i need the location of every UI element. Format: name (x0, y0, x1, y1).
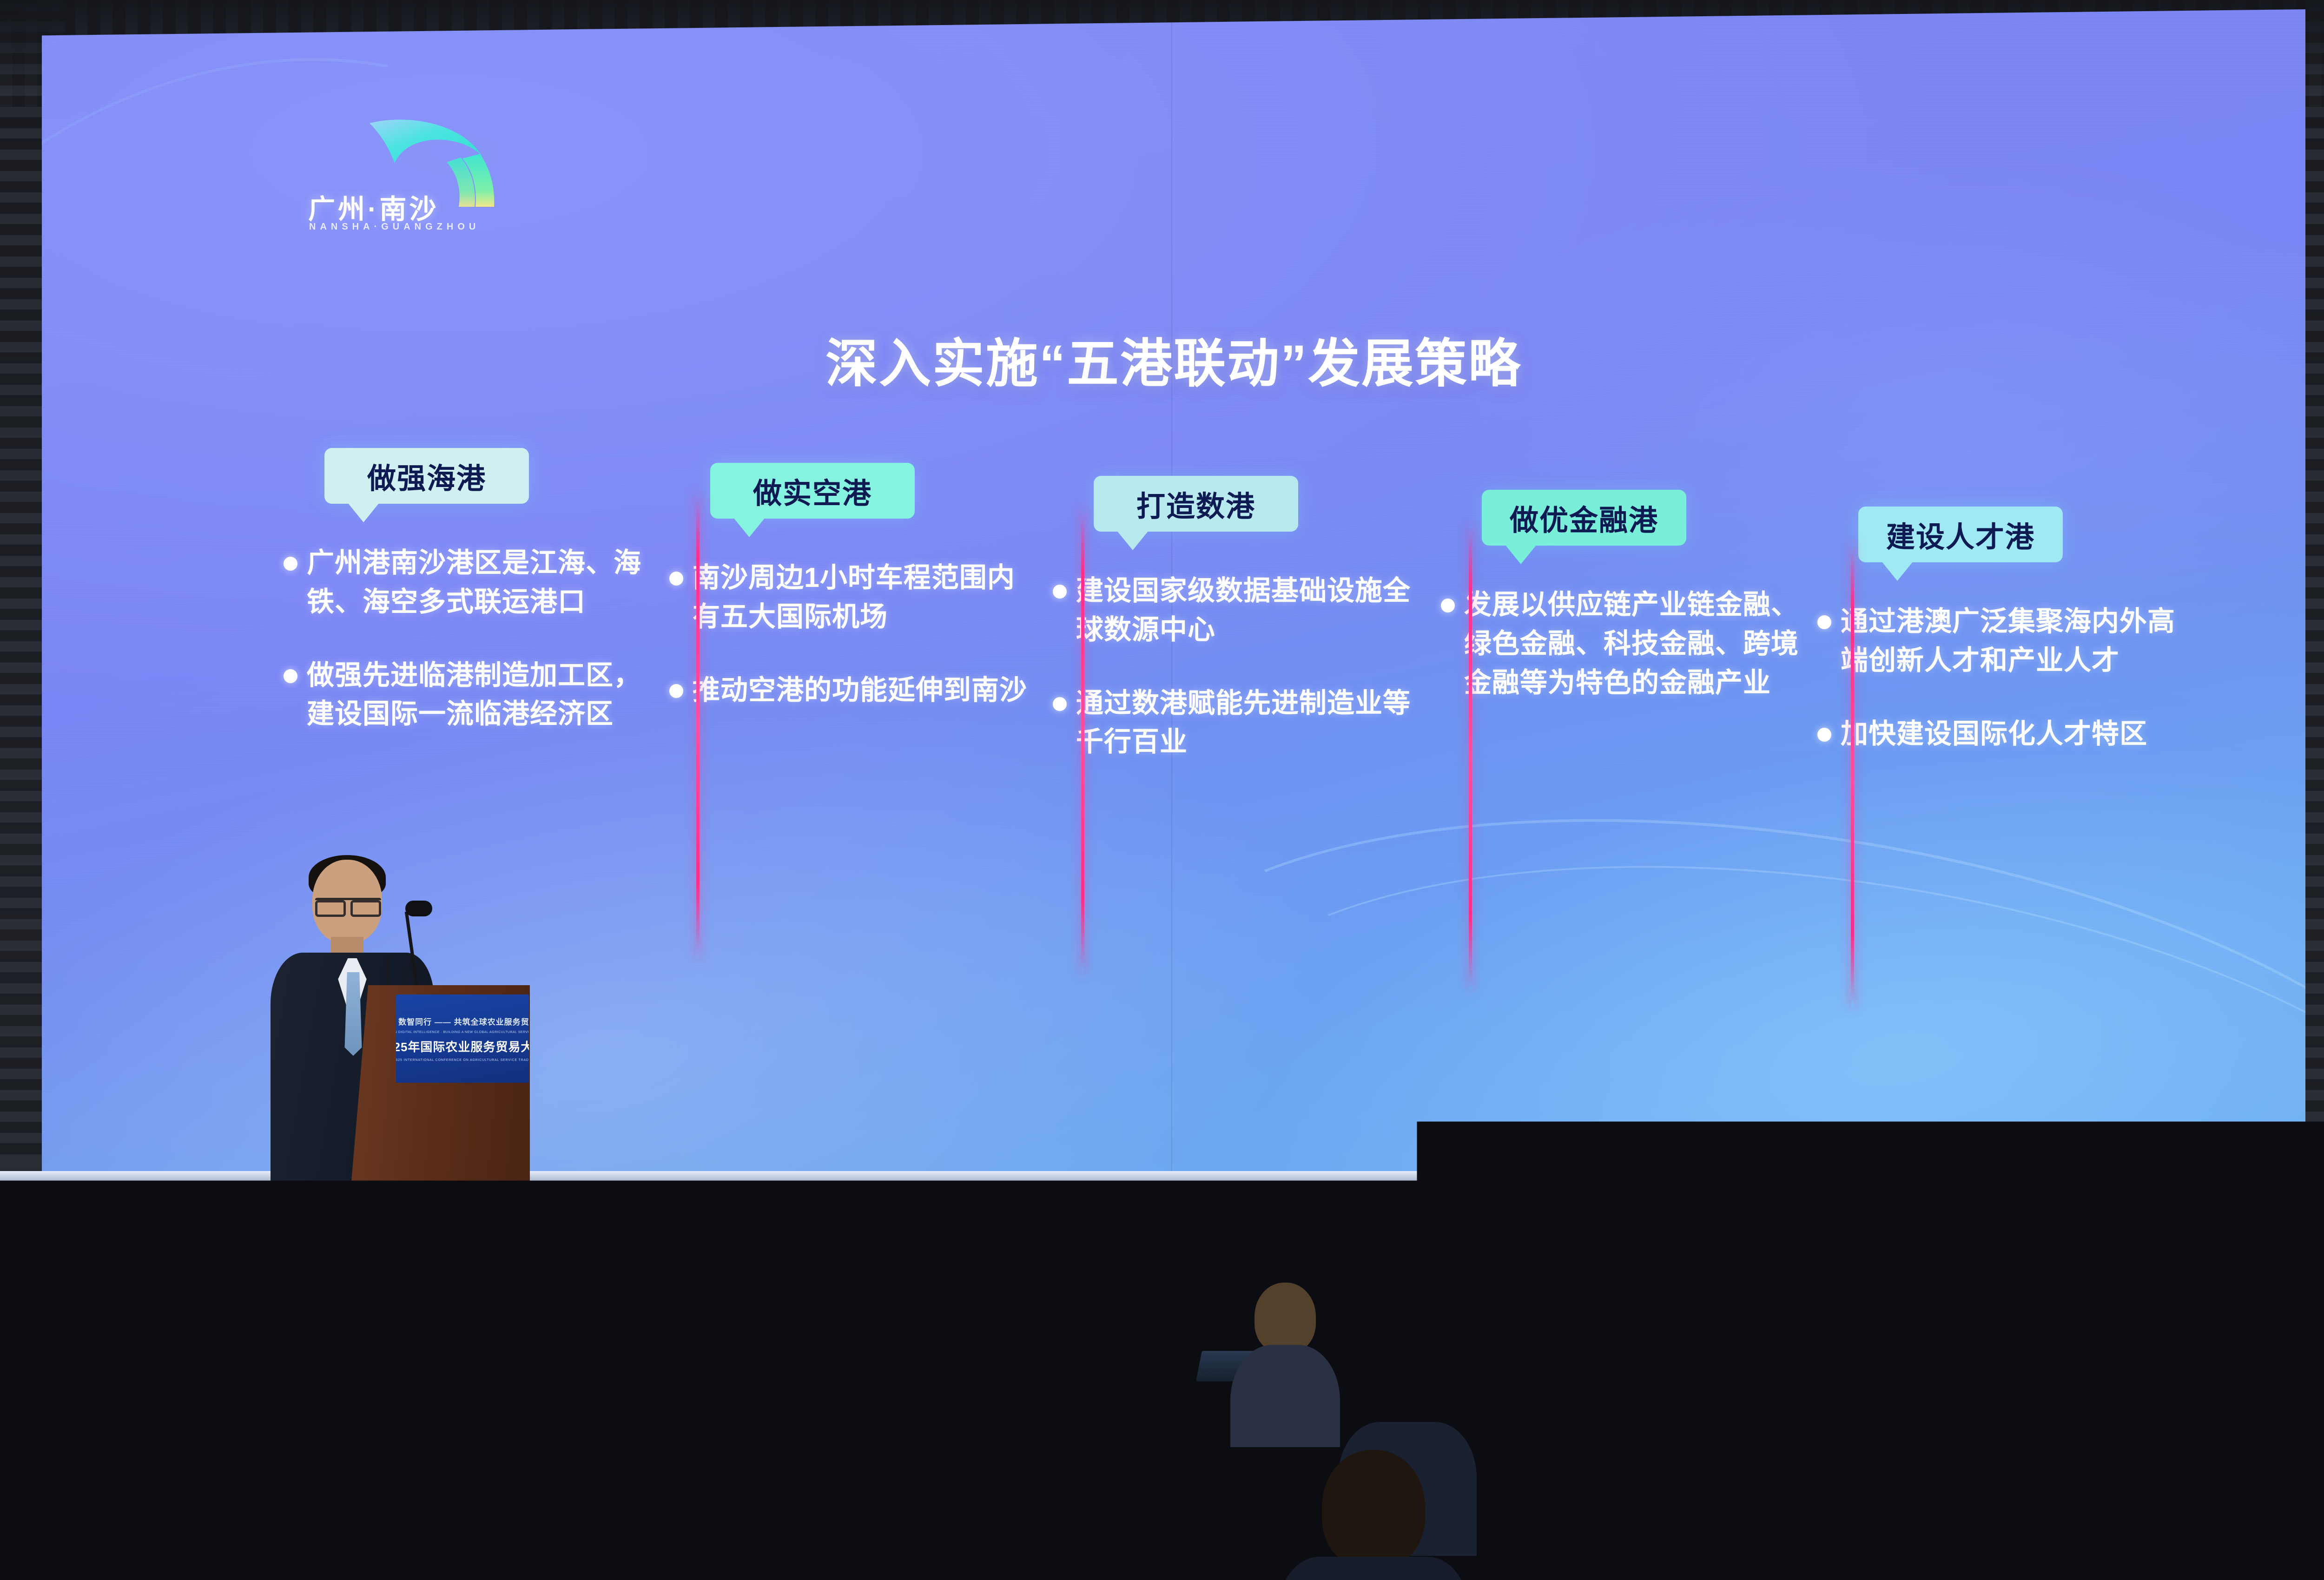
bullet-item: 推动空港的功能延伸到南沙 (669, 671, 1032, 710)
audience-head (492, 1278, 554, 1349)
bullet-dot-icon (669, 572, 683, 586)
bullet-item: 南沙周边1小时车程范围内有五大国际机场 (669, 559, 1032, 637)
audience-head (1917, 1459, 2020, 1577)
audience-head (1636, 1283, 1697, 1352)
badge-tail-0 (348, 503, 379, 522)
bullets-shugang: 建设国家级数据基础设施全球数源中心 通过数港赋能先进制造业等千行百业 (1053, 572, 1415, 796)
badge-wrap-4: 建设人才港 (1817, 507, 2180, 595)
bullet-dot-icon (1817, 728, 1831, 742)
badge-wrap-0: 做强海港 (284, 448, 646, 536)
bullet-item: 发展以供应链产业链金融、绿色金融、科技金融、跨境金融等为特色的金融产业 (1441, 586, 1803, 702)
bullet-item: 通过数港赋能先进制造业等千行百业 (1053, 684, 1415, 762)
logo-chinese-text: 广州·南沙 (308, 187, 439, 226)
column-divider (1469, 525, 1472, 990)
bullet-text: 建设国家级数据基础设施全球数源中心 (1076, 572, 1415, 650)
badge-label: 做强海港 (347, 455, 507, 497)
audience-head (514, 1441, 616, 1558)
bullet-item: 做强先进临港制造加工区，建设国际一流临港经济区 (284, 656, 646, 734)
nansha-guangzhou-logo: 广州·南沙 NANSHA·GUANGZHOU (300, 118, 504, 239)
audience-member (483, 1441, 646, 1580)
microphone-icon (405, 901, 432, 916)
audience-member (28, 1515, 195, 1580)
audience-body (1230, 1345, 1340, 1447)
bullet-text: 广州港南沙港区是江海、海铁、海空多式联运港口 (307, 544, 646, 622)
logo-english-text: NANSHA·GUANGZHOU (309, 222, 480, 232)
column-haigang: 做强海港 广州港南沙港区是江海、海铁、海空多式联运港口 做强先进临港制造加工区，… (284, 448, 646, 536)
badge-shugang: 打造数港 (1094, 476, 1298, 532)
bullets-rencaigang: 通过港澳广泛集聚海内外高端创新人才和产业人才 加快建设国际化人才特区 (1817, 602, 2180, 788)
audience-head (1676, 1348, 1752, 1436)
audience-body (2105, 1344, 2213, 1446)
audience-member (985, 1292, 1083, 1445)
bullet-text: 发展以供应链产业链金融、绿色金融、科技金融、跨境金融等为特色的金融产业 (1464, 586, 1803, 702)
bullet-item: 加快建设国际化人才特区 (1817, 715, 2180, 754)
column-divider (1081, 508, 1084, 973)
audience-member (2175, 1468, 2324, 1580)
audience-head (839, 1450, 941, 1567)
audience-member (688, 1283, 781, 1431)
audience-member (1236, 1283, 1334, 1436)
audience-head (1868, 1278, 1929, 1349)
audience-member (1023, 1496, 1190, 1580)
audience-head (1950, 1338, 2027, 1427)
podium-sign-title-en: 2025 INTERNATIONAL CONFERENCE ON AGRICUL… (396, 1059, 529, 1062)
five-port-columns: 做强海港 广州港南沙港区是江海、海铁、海空多式联运港口 做强先进临港制造加工区，… (284, 441, 2273, 999)
audience-area: 国际农业服务贸易大会 贾广东 Jia Guangdong (0, 1143, 2324, 1580)
audience-head (2205, 1468, 2308, 1580)
audience-head (1322, 1450, 1425, 1568)
audience-head (1481, 1552, 1587, 1580)
bullet-text: 加快建设国际化人才特区 (1841, 715, 2147, 754)
badge-label: 做优金融港 (1489, 497, 1679, 539)
column-shugang: 打造数港 建设国家级数据基础设施全球数源中心 通过数港赋能先进制造业等千行百业 (1053, 476, 1415, 564)
audience-member (688, 1552, 855, 1580)
bullet-dot-icon (1053, 585, 1067, 599)
column-jinronggang: 做优金融港 发展以供应链产业链金融、绿色金融、科技金融、跨境金融等为特色的金融产… (1441, 490, 1803, 578)
badge-tail-1 (733, 518, 765, 537)
column-konggang: 做实空港 南沙周边1小时车程范围内有五大国际机场 推动空港的功能延伸到南沙 (669, 463, 1032, 551)
badge-wrap-1: 做实空港 (669, 463, 1032, 551)
bullets-jinronggang: 发展以供应链产业链金融、绿色金融、科技金融、跨境金融等为特色的金融产业 (1441, 586, 1803, 737)
bullet-text: 通过港澳广泛集聚海内外高端创新人才和产业人才 (1841, 602, 2180, 680)
audience-member (1292, 1450, 1455, 1580)
audience-body (1278, 1557, 1469, 1580)
badge-label: 做实空港 (733, 470, 892, 512)
bottle-cap (2000, 1313, 2013, 1322)
right-wall-slats (2305, 0, 2324, 1162)
audience-member (818, 1278, 916, 1431)
speaker-glasses (315, 898, 381, 911)
podium-sign-title: 2025年国际农业服务贸易大会 (396, 1038, 529, 1055)
audience-member (1887, 1459, 2050, 1580)
bullet-dot-icon (284, 557, 297, 571)
bullet-text: 做强先进临港制造加工区，建设国际一流临港经济区 (307, 656, 646, 734)
audience-body (470, 1547, 660, 1580)
podium-conference-sign: 创新驱动 数智同行 —— 共筑全球农业服务贸易新格局 INNOVATION DR… (396, 994, 529, 1083)
bullet-text: 推动空港的功能延伸到南沙 (693, 671, 1027, 710)
audience-head (836, 1278, 898, 1349)
bullet-dot-icon (284, 669, 297, 683)
column-divider (1851, 543, 1854, 1007)
bottle-cap (805, 1323, 819, 1331)
audience-head (719, 1552, 825, 1580)
audience-member (46, 1338, 163, 1534)
audience-head (1003, 1292, 1065, 1363)
audience-member (1450, 1552, 1618, 1580)
audience-head (1468, 1278, 1530, 1349)
photo-stage: 广州·南沙 NANSHA·GUANGZHOU 深入实施“五港联动”发展策略 做强… (0, 0, 2324, 1580)
badge-wrap-3: 做优金融港 (1441, 490, 1803, 578)
bullet-item: 建设国家级数据基础设施全球数源中心 (1053, 572, 1415, 650)
audience-head (570, 1357, 648, 1446)
bullets-konggang: 南沙周边1小时车程范围内有五大国际机场 推动空港的功能延伸到南沙 (669, 559, 1032, 744)
podium-sign-tagline: 创新驱动 数智同行 —— 共筑全球农业服务贸易新格局 (396, 1015, 529, 1027)
badge-label: 打造数港 (1116, 483, 1276, 525)
audience-member (200, 1273, 297, 1427)
audience-head (1369, 1343, 1446, 1431)
badge-wrap-2: 打造数港 (1053, 476, 1415, 564)
audience-member (2110, 1283, 2208, 1436)
badge-rencaigang: 建设人才港 (1858, 507, 2063, 562)
bullet-item: 通过港澳广泛集聚海内外高端创新人才和产业人才 (1817, 602, 2180, 680)
audience-head (67, 1338, 142, 1424)
audience-member (344, 1343, 460, 1538)
column-divider (696, 494, 700, 958)
badge-label: 建设人才港 (1866, 513, 2055, 555)
bullet-text: 通过数港赋能先进制造业等千行百业 (1076, 684, 1415, 762)
audience-body (978, 1355, 1090, 1457)
audience-head (1254, 1283, 1316, 1353)
column-rencaigang: 建设人才港 通过港澳广泛集聚海内外高端创新人才和产业人才 加快建设国际化人才特区 (1817, 507, 2180, 595)
badge-tail-3 (1505, 545, 1537, 564)
bottle-cap (2042, 1327, 2055, 1336)
bullet-dot-icon (1441, 599, 1455, 612)
audience-body (1873, 1566, 2064, 1580)
badge-jinronggang: 做优金融港 (1482, 490, 1686, 546)
audience-head (59, 1515, 165, 1580)
audience-head (187, 1422, 287, 1536)
bullet-item: 广州港南沙港区是江海、海铁、海空多式联运港口 (284, 544, 646, 622)
audience-body (812, 1340, 922, 1442)
bullet-dot-icon (1053, 697, 1067, 711)
audience-head (1053, 1496, 1159, 1580)
bullet-dot-icon (669, 684, 683, 698)
bullet-text: 南沙周边1小时车程范围内有五大国际机场 (693, 559, 1032, 637)
badge-tail-2 (1117, 531, 1149, 550)
badge-konggang: 做实空港 (710, 463, 915, 519)
audience-body (681, 1343, 787, 1442)
audience-head (364, 1343, 440, 1430)
slide-title: 深入实施“五港联动”发展策略 (42, 322, 2305, 397)
badge-tail-4 (1882, 561, 1913, 581)
audience-body (334, 1421, 470, 1552)
audience-head (218, 1273, 279, 1343)
audience-body (2161, 1575, 2324, 1580)
podium-sign-tagline-en: INNOVATION DRIVEN DIGITAL INTELLIGENCE ·… (396, 1031, 529, 1034)
bullets-haigang: 广州港南沙港区是江海、海铁、海空多式联运港口 做强先进临港制造加工区，建设国际一… (284, 544, 646, 768)
audience-head (2129, 1283, 2189, 1352)
badge-haigang: 做强海港 (324, 448, 529, 504)
audience-body (195, 1335, 302, 1437)
audience-head (1611, 1431, 1713, 1548)
bullet-dot-icon (1817, 615, 1831, 629)
audience-head (705, 1283, 764, 1351)
